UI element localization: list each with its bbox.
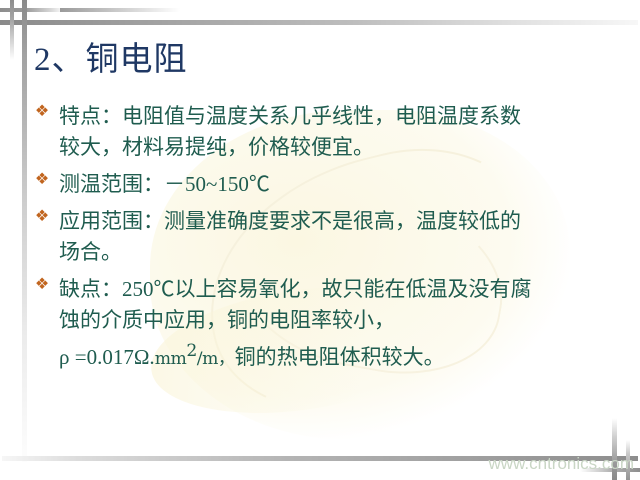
list-item-features: ❖ 特点：电阻值与温度关系几乎线性，电阻温度系数 较大，材料易提纯，价格较便宜。	[33, 101, 611, 163]
decor-line-top-long	[0, 20, 638, 25]
list-item-line: 缺点：250℃以上容易氧化，故只能在低温及没有腐	[59, 274, 611, 305]
bullet-list: ❖ 特点：电阻值与温度关系几乎线性，电阻温度系数 较大，材料易提纯，价格较便宜。…	[33, 101, 611, 381]
list-item-temperature-range: ❖ 测温范围：－50~150℃	[33, 169, 611, 200]
formula-unit-base: mm	[155, 349, 187, 369]
diamond-bullet-icon: ❖	[33, 276, 51, 294]
list-item-disadvantages: ❖ 缺点：250℃以上容易氧化，故只能在低温及没有腐 蚀的介质中应用，铜的电阻率…	[33, 274, 611, 375]
page-title: 2、铜电阻	[34, 40, 188, 80]
decor-line-left-long	[22, 0, 27, 462]
formula-unit-tail: /m，	[197, 349, 235, 369]
diamond-bullet-icon: ❖	[33, 103, 51, 121]
list-item-line: 应用范围：测量准确度要求不是很高，温度较低的	[59, 206, 611, 237]
list-item-line: 场合。	[59, 237, 611, 268]
list-item-line: 测温范围：－50~150℃	[59, 169, 611, 200]
formula-tail-text: 铜的热电阻体积较大。	[235, 345, 445, 369]
rho-symbol: ρ	[59, 345, 69, 369]
list-item-line: 蚀的介质中应用，铜的电阻率较小，	[59, 305, 611, 336]
diamond-bullet-icon: ❖	[33, 208, 51, 226]
decor-line-top-fade	[60, 8, 180, 12]
list-item-line: 特点：电阻值与温度关系几乎线性，电阻温度系数	[59, 101, 611, 132]
diamond-bullet-icon: ❖	[33, 171, 51, 189]
slide-canvas: 2、铜电阻 ❖ 特点：电阻值与温度关系几乎线性，电阻温度系数 较大，材料易提纯，…	[0, 0, 640, 480]
decor-line-left-short	[10, 0, 14, 60]
formula-unit-exponent: 2	[186, 341, 196, 361]
list-item-application-range: ❖ 应用范围：测量准确度要求不是很高，温度较低的 场合。	[33, 206, 611, 268]
resistivity-formula-line: ρ =0.017Ω.mm2/m，铜的热电阻体积较大。	[59, 336, 611, 375]
formula-equals: =0.017Ω.	[75, 345, 155, 369]
site-watermark: www.cntronics.com	[489, 454, 634, 474]
list-item-line: 较大，材料易提纯，价格较便宜。	[59, 132, 611, 163]
